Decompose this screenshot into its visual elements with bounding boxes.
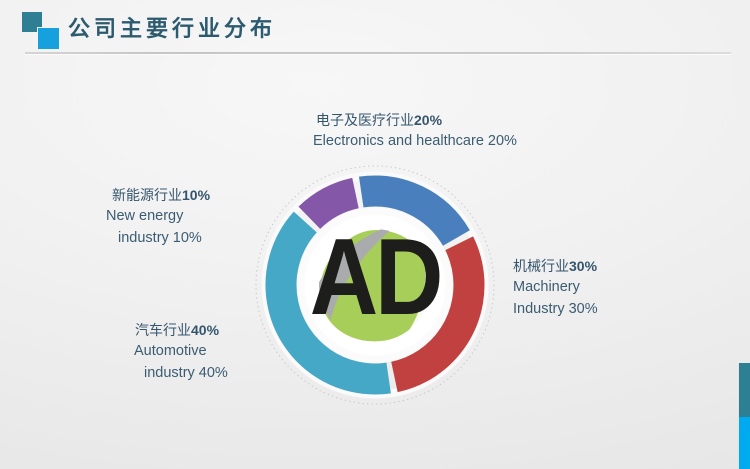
callout-electronics: 电子及医疗行业20% Electronics and healthcare 20… — [313, 110, 517, 152]
callout-newenergy: 新能源行业10% New energy industry 10% — [112, 185, 210, 249]
callout-machinery: 机械行业30% Machinery Industry 30% — [513, 256, 598, 320]
center-logo: AD — [302, 216, 440, 356]
callout-automotive-label-en-line2: industry 40% — [144, 362, 228, 384]
page-title: 公司主要行业分布 — [68, 14, 276, 44]
callout-electronics-label-en: Electronics and healthcare 20% — [313, 130, 517, 152]
callout-automotive-label-cn: 汽车行业40% — [135, 320, 228, 340]
callout-machinery-label-en-line1: Machinery — [513, 276, 598, 298]
logo-text: AD — [310, 216, 441, 337]
callout-machinery-label-cn: 机械行业30% — [513, 256, 598, 276]
callout-automotive: 汽车行业40% Automotive industry 40% — [135, 320, 228, 384]
callout-automotive-label-en-line1: Automotive — [134, 340, 228, 362]
callout-newenergy-label-en-line2: industry 10% — [118, 227, 210, 249]
decorative-square-bottom-icon — [38, 28, 59, 49]
callout-machinery-label-en-line2: Industry 30% — [513, 298, 598, 320]
callout-newenergy-label-en-line1: New energy — [106, 205, 210, 227]
slide-canvas: 公司主要行业分布 — [0, 0, 750, 469]
slide-header: 公司主要行业分布 — [0, 0, 750, 60]
callout-electronics-label-cn: 电子及医疗行业20% — [316, 110, 517, 130]
callout-newenergy-label-cn: 新能源行业10% — [112, 185, 210, 205]
donut-chart: AD — [250, 160, 500, 410]
edge-accent-bar — [738, 363, 750, 469]
title-divider — [25, 52, 731, 55]
donut-chart-svg: AD — [250, 160, 500, 410]
